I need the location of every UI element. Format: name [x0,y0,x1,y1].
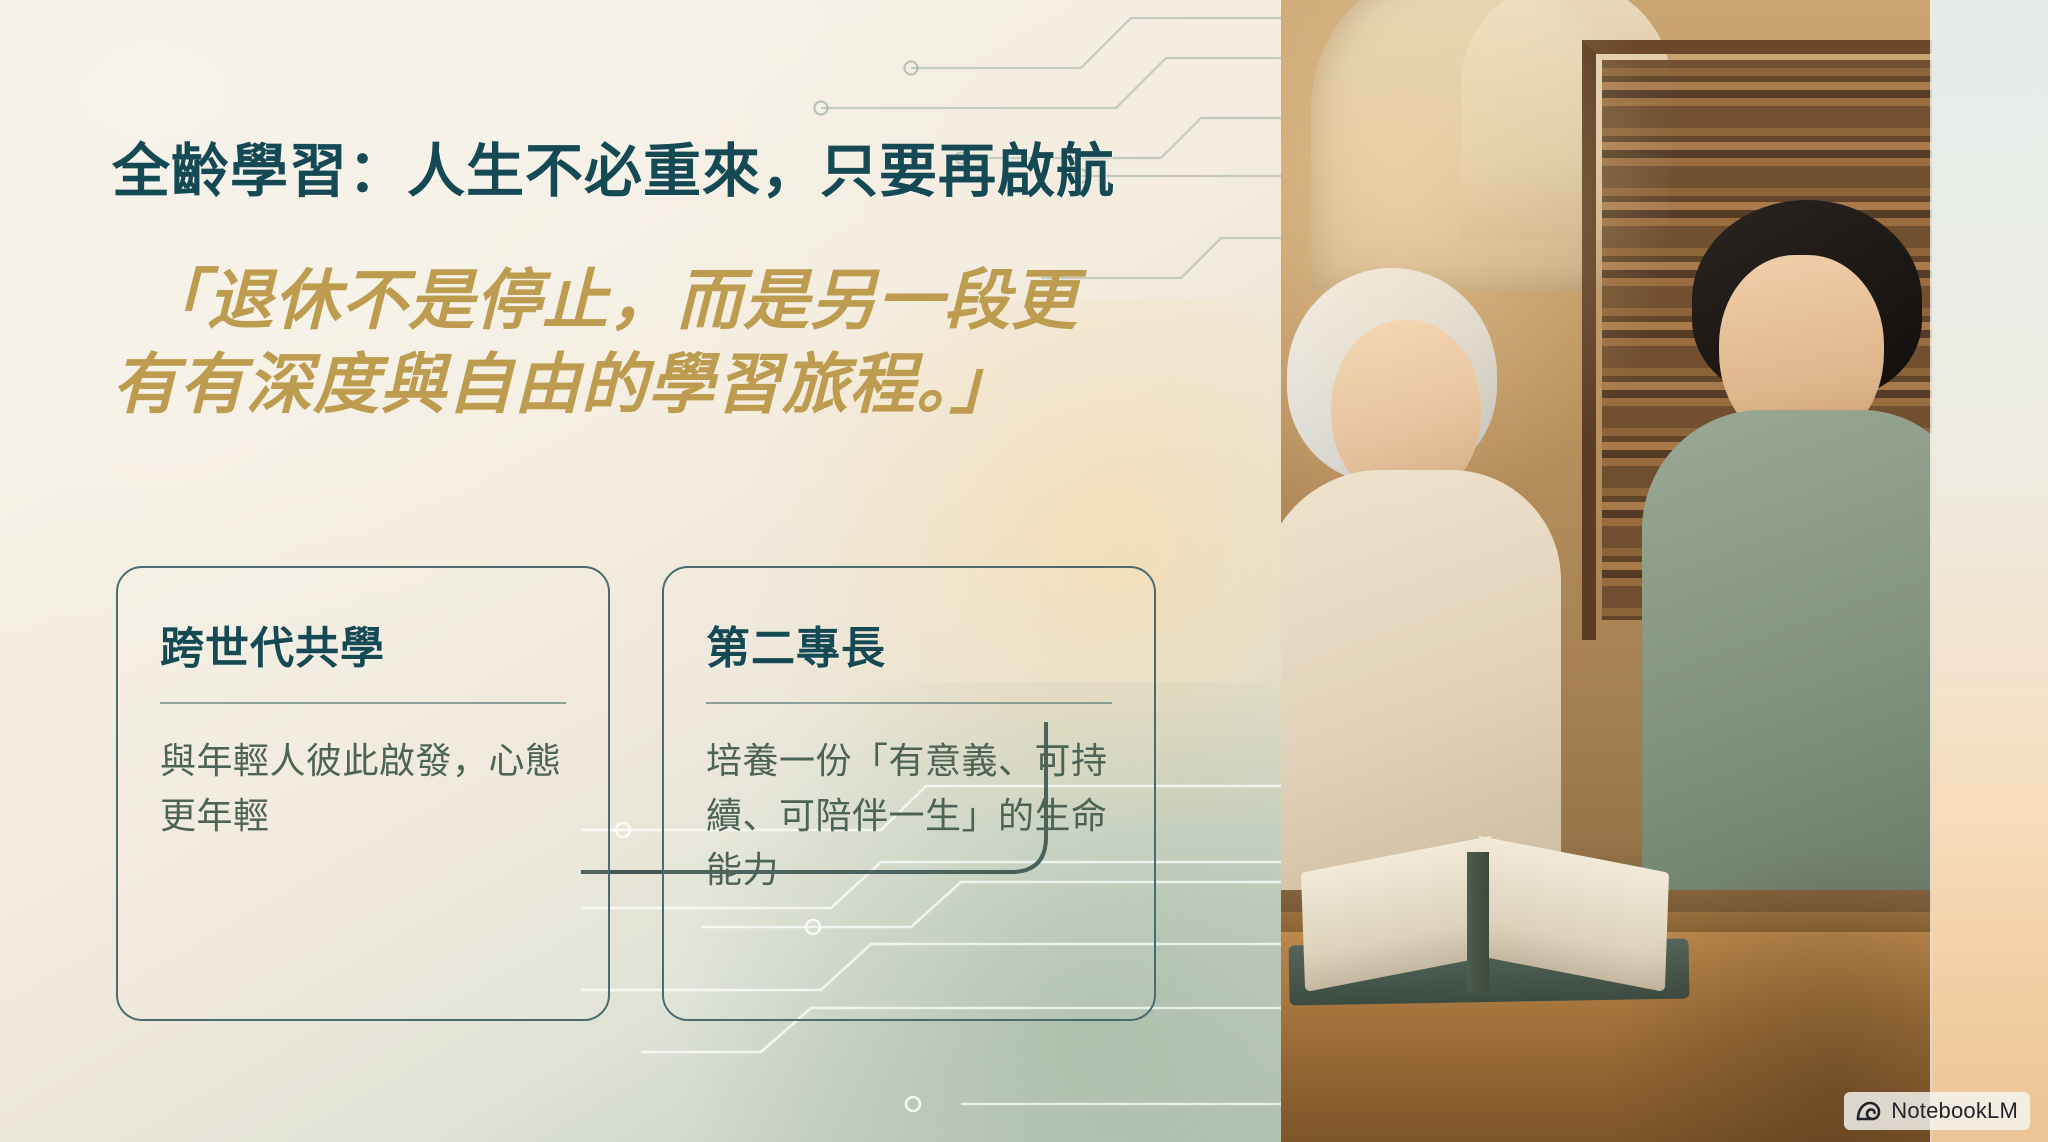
card-divider [706,702,1112,704]
feature-card-list: 跨世代共學 與年輕人彼此啟發，心態更年輕 第二專長 培養一份「有意義、可持續、可… [116,566,1156,1021]
notebooklm-spiral-icon [1856,1100,1882,1122]
card-body: 與年輕人彼此啟發，心態更年輕 [160,734,566,843]
card-body: 培養一份「有意義、可持續、可陪伴一生」的生命能力 [706,734,1112,898]
card-divider [160,702,566,704]
sunset-gradient-strip [1932,0,2048,1142]
page-title: 全齡學習：人生不必重來，只要再啟航 [112,124,1115,208]
feature-card-cross-generation[interactable]: 跨世代共學 與年輕人彼此啟發，心態更年輕 [116,566,610,1021]
library-photo [1281,0,1932,1142]
pull-quote: 「退休不是停止，而是另一段更 有有深度與自由的學習旅程。」 [112,258,1172,427]
watermark-label: NotebookLM [1891,1098,2018,1124]
card-title: 第二專長 [706,612,1112,676]
slide-canvas: 全齡學習：人生不必重來，只要再啟航 「退休不是停止，而是另一段更 有有深度與自由… [0,0,2048,1142]
quote-line-2: 有有深度與自由的學習旅程。」 [112,342,1172,426]
feature-card-second-skill[interactable]: 第二專長 培養一份「有意義、可持續、可陪伴一生」的生命能力 [662,566,1156,1021]
notebooklm-watermark: NotebookLM [1844,1092,2030,1130]
photo-book-spine [1467,852,1489,992]
photo-person-senior-body [1281,470,1561,890]
content-panel: 全齡學習：人生不必重來，只要再啟航 「退休不是停止，而是另一段更 有有深度與自由… [0,0,1281,1142]
quote-line-1: 「退休不是停止，而是另一段更 [112,258,1172,342]
photo-person-young-body [1642,410,1932,890]
card-title: 跨世代共學 [160,612,566,676]
